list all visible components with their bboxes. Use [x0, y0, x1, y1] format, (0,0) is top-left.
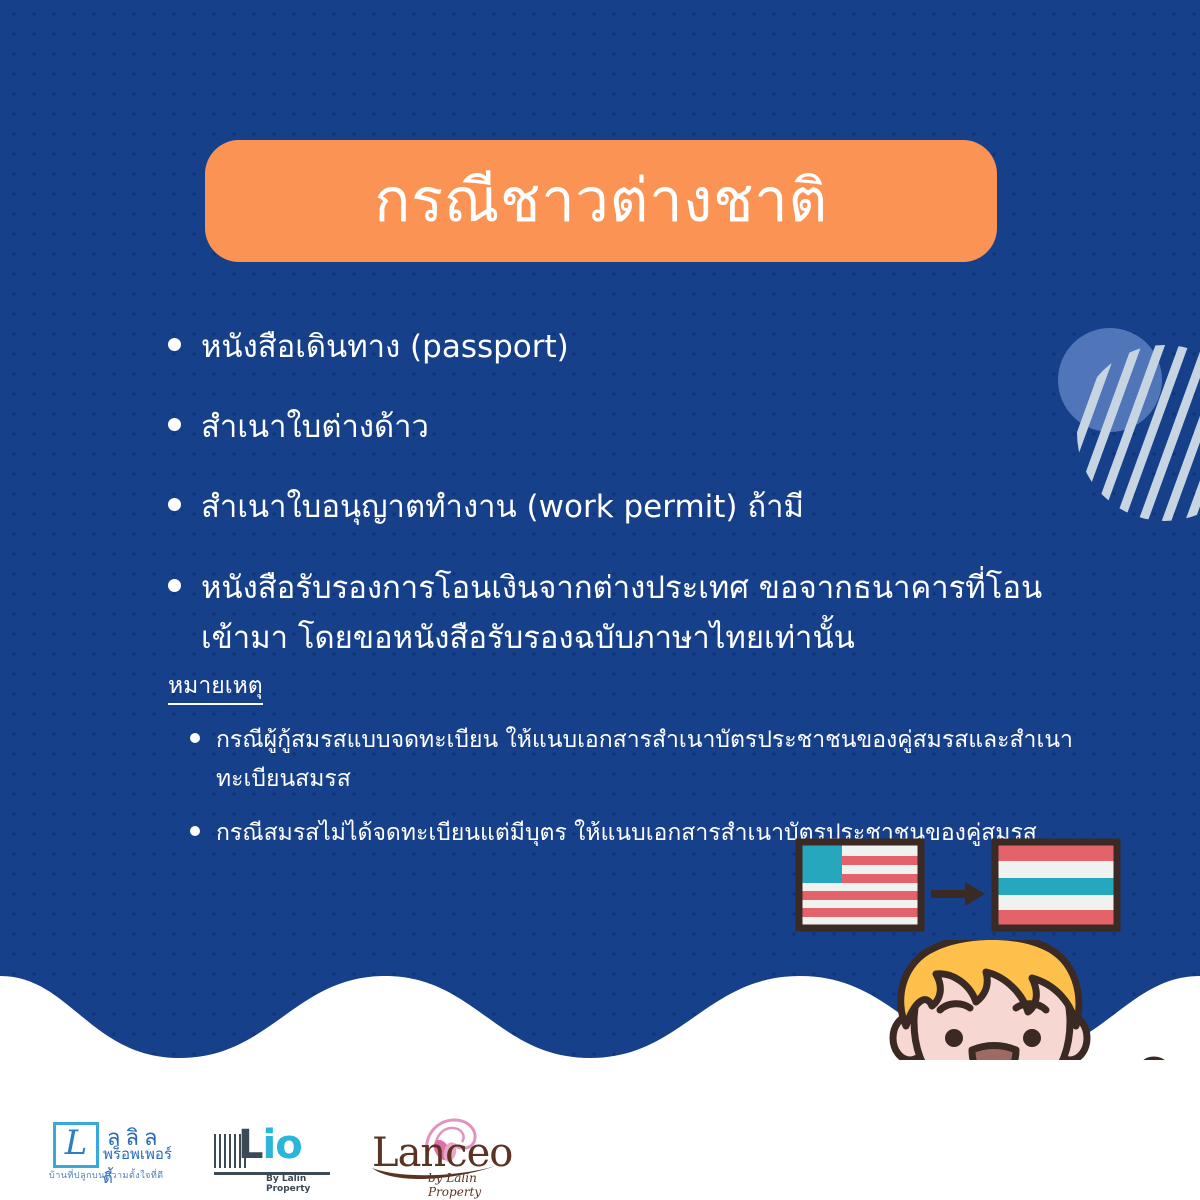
note-list-item-label: กรณีผู้กู้สมรสแบบจดทะเบียน ให้แนบเอกสารส… [216, 721, 1076, 800]
note-list-item: กรณีผู้กู้สมรสแบบจดทะเบียน ให้แนบเอกสารส… [168, 721, 1078, 800]
logo-lio: Lio By Lalin Property [214, 1116, 334, 1188]
flag-transfer-illustration [795, 838, 1125, 953]
lalin-mark-icon: L [53, 1122, 99, 1168]
logo-lalin-property: L ลลิล พร็อพเพอร์ตี้ บ้านที่ปลูกบนความตั… [45, 1116, 180, 1188]
bullet-icon [168, 338, 181, 351]
lalin-mark-letter: L [56, 1123, 96, 1163]
logo-row: L ลลิล พร็อพเพอร์ตี้ บ้านที่ปลูกบนความตั… [45, 1116, 518, 1188]
list-item-label: หนังสือเดินทาง (passport) [201, 322, 569, 372]
page-title-banner: กรณีชาวต่างชาติ [205, 140, 997, 262]
page-title: กรณีชาวต่างชาติ [374, 171, 828, 231]
note-heading: หมายเหตุ [168, 672, 263, 705]
bullet-icon [190, 826, 200, 836]
list-item: หนังสือรับรองการโอนเงินจากต่างประเทศ ขอจ… [168, 563, 1078, 663]
bullet-icon [168, 579, 181, 592]
list-item: หนังสือเดินทาง (passport) [168, 322, 1078, 372]
bullet-icon [168, 498, 181, 511]
thai-flag-icon [995, 842, 1117, 928]
list-item-label: สำเนาใบต่างด้าว [201, 402, 429, 452]
list-item-label: หนังสือรับรองการโอนเงินจากต่างประเทศ ขอจ… [201, 563, 1061, 663]
list-item: สำเนาใบอนุญาตทำงาน (work permit) ถ้ามี [168, 482, 1078, 532]
infographic-poster: กรณีชาวต่างชาติ หนังสือเดินทาง (passport… [0, 0, 1200, 1200]
logo-lanceo: Lanceo by Lalin Property [368, 1116, 518, 1188]
lio-letters-io: io [263, 1122, 302, 1168]
note-list: กรณีผู้กู้สมรสแบบจดทะเบียน ให้แนบเอกสารส… [168, 721, 1078, 854]
lio-wordmark: Lio [238, 1122, 302, 1168]
us-flag-icon [799, 842, 921, 928]
footer: L ลลิล พร็อพเพอร์ตี้ บ้านที่ปลูกบนความตั… [0, 1060, 1200, 1200]
lio-letter-l: L [238, 1122, 263, 1168]
list-item-label: สำเนาใบอนุญาตทำงาน (work permit) ถ้ามี [201, 482, 804, 532]
list-item: สำเนาใบต่างด้าว [168, 402, 1078, 452]
arrow-right-icon [931, 882, 985, 906]
bullet-icon [168, 418, 181, 431]
lio-subtitle: By Lalin Property [266, 1174, 334, 1194]
lalin-tagline: บ้านที่ปลูกบนความตั้งใจที่ดี [49, 1168, 164, 1182]
document-list: หนังสือเดินทาง (passport) สำเนาใบต่างด้า… [168, 322, 1078, 693]
lanceo-subtitle: by Lalin Property [428, 1171, 518, 1199]
bullet-icon [190, 733, 200, 743]
lalin-subtitle-thai: พร็อพเพอร์ตี้ [103, 1142, 180, 1190]
